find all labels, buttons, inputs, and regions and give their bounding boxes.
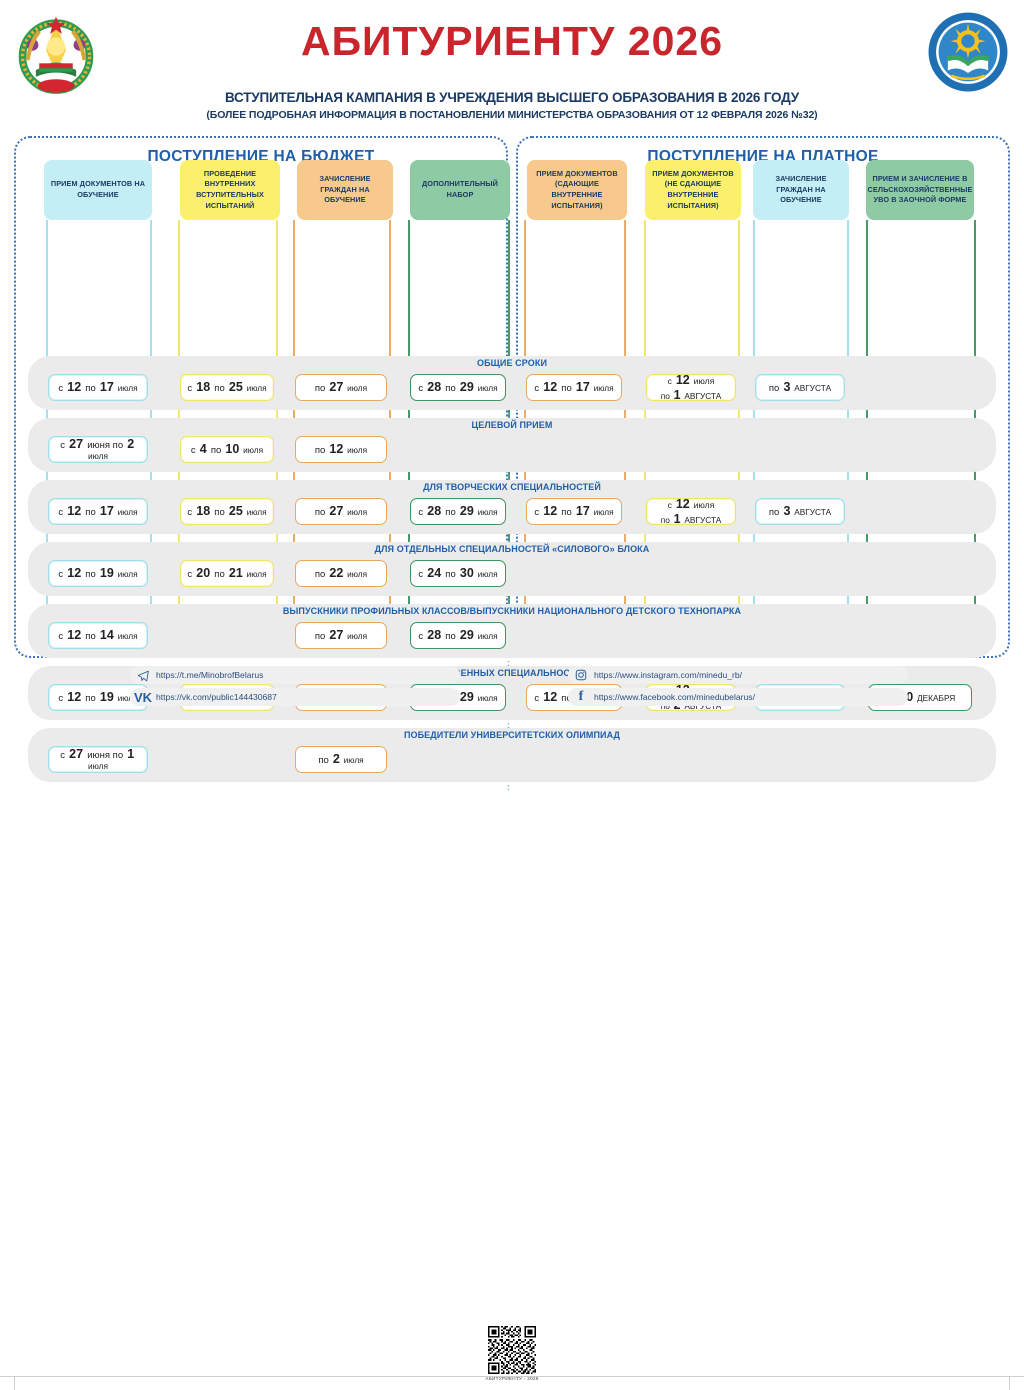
date-cell-text: по 3 АВГУСТА (769, 504, 831, 519)
row-label: ЦЕЛЕВОЙ ПРИЕМ (28, 418, 996, 433)
date-cell: с 12 по 17 июля (526, 374, 622, 401)
schedule-row: ВЫПУСКНИКИ ПРОФИЛЬНЫХ КЛАССОВ/ВЫПУСКНИКИ… (28, 604, 996, 658)
date-cell: с 12 по 17 июля (526, 498, 622, 525)
footer-tick-left (14, 1376, 15, 1390)
schedule-board: ПОСТУПЛЕНИЕ НА БЮДЖЕТ ПОСТУПЛЕНИЕ НА ПЛА… (0, 128, 1024, 658)
page-footer: https://t.me/MinobrofBelarusVKhttps://vk… (0, 660, 1024, 730)
column-header-7: ПРИЕМ И ЗАЧИСЛЕНИЕ В СЕЛЬСКОХОЗЯЙСТВЕННЫ… (866, 160, 974, 220)
date-cell-text: с 12 по 14 июля (58, 628, 137, 643)
panel-separator-dots: : (507, 784, 517, 796)
date-cell: с 12 июляпо 1 АВГУСТА (646, 374, 736, 401)
column-header-label: ДОПОЛНИТЕЛЬНЫЙ НАБОР (414, 179, 506, 200)
date-cell: с 18 по 25 июля (180, 374, 274, 401)
date-cell-text: с 12 по 19 июля (58, 566, 137, 581)
date-cell: с 12 по 19 июля (48, 560, 148, 587)
page-subtitle: ВСТУПИТЕЛЬНАЯ КАМПАНИЯ В УЧРЕЖДЕНИЯ ВЫСШ… (0, 90, 1024, 105)
row-label: ДЛЯ ОТДЕЛЬНЫХ СПЕЦИАЛЬНОСТЕЙ «СИЛОВОГО» … (28, 542, 996, 557)
schedule-row: ДЛЯ ОТДЕЛЬНЫХ СПЕЦИАЛЬНОСТЕЙ «СИЛОВОГО» … (28, 542, 996, 596)
date-cell: с 20 по 21 июля (180, 560, 274, 587)
row-label: ВЫПУСКНИКИ ПРОФИЛЬНЫХ КЛАССОВ/ВЫПУСКНИКИ… (28, 604, 996, 619)
date-cell-text: с 12 по 17 июля (58, 504, 137, 519)
date-cell-text: по 27 июля (315, 628, 367, 643)
column-header-label: ЗАЧИСЛЕНИЕ ГРАЖДАН НА ОБУЧЕНИЕ (301, 174, 389, 206)
date-cell: с 24 по 30 июля (410, 560, 506, 587)
date-cell-text: по 22 июля (315, 566, 367, 581)
page-header: АБИТУРИЕНТУ 2026 (0, 0, 1024, 128)
date-cell-text: с 20 по 21 июля (187, 566, 266, 581)
telegram-icon[interactable] (130, 669, 156, 682)
ministry-of-education-emblem-icon (926, 8, 1010, 96)
date-cell: с 28 по 29 июля (410, 498, 506, 525)
date-cell: по 12 июля (295, 436, 387, 463)
date-cell-text: по 27 июля (315, 380, 367, 395)
column-header-label: ПРИЕМ ДОКУМЕНТОВ (СДАЮЩИЕ ВНУТРЕННИЕ ИСП… (531, 169, 623, 211)
row-label: ОБЩИЕ СРОКИ (28, 356, 996, 371)
date-cell-text: с 18 по 25 июля (187, 504, 266, 519)
date-cell-text: с 4 по 10 июля (191, 442, 263, 457)
footer-link-row[interactable]: fhttps://www.facebook.com/minedubelarus/ (568, 688, 908, 706)
date-cell-text: с 28 по 29 июля (418, 504, 497, 519)
facebook-icon[interactable]: f (568, 689, 594, 705)
date-cell: по 3 АВГУСТА (755, 374, 845, 401)
column-header-5: ПРИЕМ ДОКУМЕНТОВ (НЕ СДАЮЩИЕ ВНУТРЕННИЕ … (645, 160, 741, 220)
date-cell-text: по 2 июля (318, 752, 363, 767)
footer-divider (0, 1376, 1024, 1377)
date-cell: с 4 по 10 июля (180, 436, 274, 463)
row-label: ДЛЯ ТВОРЧЕСКИХ СПЕЦИАЛЬНОСТЕЙ (28, 480, 996, 495)
date-cell-text: с 24 по 30 июля (418, 566, 497, 581)
date-cell-text: по 3 АВГУСТА (769, 380, 831, 395)
date-cell: с 27 июня по 1 июля (48, 746, 148, 773)
column-header-1: ПРОВЕДЕНИЕ ВНУТРЕННИХ ВСТУПИТЕЛЬНЫХ ИСПЫ… (180, 160, 280, 220)
date-cell: с 18 по 25 июля (180, 498, 274, 525)
date-cell-text: с 12 по 17 июля (534, 504, 613, 519)
footer-tick-right (1009, 1376, 1010, 1390)
date-cell-text: с 28 по 29 июля (418, 380, 497, 395)
qr-code-block: АБИТУРИЕНТУ - 2026 (481, 1326, 543, 1381)
date-cell: с 12 по 17 июля (48, 498, 148, 525)
date-cell-text: с 27 июня по 1 июля (51, 747, 145, 773)
date-cell: с 28 по 29 июля (410, 374, 506, 401)
date-cell: по 2 июля (295, 746, 387, 773)
footer-link-url[interactable]: https://www.instagram.com/minedu_rb/ (594, 670, 742, 680)
date-cell-text: с 18 по 25 июля (187, 380, 266, 395)
footer-link-url[interactable]: https://vk.com/public144430687 (156, 692, 277, 702)
schedule-row: ЦЕЛЕВОЙ ПРИЕМс 27 июня по 2 июляс 4 по 1… (28, 418, 996, 472)
column-header-3: ДОПОЛНИТЕЛЬНЫЙ НАБОР (410, 160, 510, 220)
date-cell: с 27 июня по 2 июля (48, 436, 148, 463)
date-cell-text: с 27 июня по 2 июля (51, 437, 145, 463)
column-header-0: ПРИЕМ ДОКУМЕНТОВ НА ОБУЧЕНИЕ (44, 160, 152, 220)
date-cell: с 28 по 29 июля (410, 622, 506, 649)
footer-link-url[interactable]: https://www.facebook.com/minedubelarus/ (594, 692, 755, 702)
instagram-icon[interactable] (568, 669, 594, 681)
date-cell-text: с 28 по 29 июля (418, 628, 497, 643)
date-cell-text: с 12 по 17 июля (58, 380, 137, 395)
column-header-4: ПРИЕМ ДОКУМЕНТОВ (СДАЮЩИЕ ВНУТРЕННИЕ ИСП… (527, 160, 627, 220)
date-cell-text: с 12 июляпо 1 АВГУСТА (661, 497, 722, 526)
footer-link-row[interactable]: VKhttps://vk.com/public144430687 (130, 688, 460, 706)
date-cell: по 27 июля (295, 498, 387, 525)
schedule-row: ОБЩИЕ СРОКИс 12 по 17 июляс 18 по 25 июл… (28, 356, 996, 410)
footer-link-url[interactable]: https://t.me/MinobrofBelarus (156, 670, 263, 680)
schedule-row: ПОБЕДИТЕЛИ УНИВЕРСИТЕТСКИХ ОЛИМПИАДс 27 … (28, 728, 996, 782)
footer-link-row[interactable]: https://t.me/MinobrofBelarus (130, 666, 460, 684)
column-header-label: ПРИЕМ И ЗАЧИСЛЕНИЕ В СЕЛЬСКОХОЗЯЙСТВЕННЫ… (868, 174, 973, 206)
footer-link-row[interactable]: https://www.instagram.com/minedu_rb/ (568, 666, 908, 684)
vk-icon[interactable]: VK (130, 690, 156, 705)
qr-code-icon (488, 1326, 536, 1374)
schedule-row: ДЛЯ ТВОРЧЕСКИХ СПЕЦИАЛЬНОСТЕЙс 12 по 17 … (28, 480, 996, 534)
date-cell: по 27 июля (295, 374, 387, 401)
date-cell: по 3 АВГУСТА (755, 498, 845, 525)
column-header-label: ПРИЕМ ДОКУМЕНТОВ (НЕ СДАЮЩИЕ ВНУТРЕННИЕ … (649, 169, 737, 211)
column-header-2: ЗАЧИСЛЕНИЕ ГРАЖДАН НА ОБУЧЕНИЕ (297, 160, 393, 220)
date-cell: с 12 по 14 июля (48, 622, 148, 649)
date-cell-text: с 12 по 17 июля (534, 380, 613, 395)
date-cell: по 27 июля (295, 622, 387, 649)
column-header-label: ПРИЕМ ДОКУМЕНТОВ НА ОБУЧЕНИЕ (48, 179, 148, 200)
date-cell: с 12 по 17 июля (48, 374, 148, 401)
date-cell: с 12 июляпо 1 АВГУСТА (646, 498, 736, 525)
row-label: ПОБЕДИТЕЛИ УНИВЕРСИТЕТСКИХ ОЛИМПИАД (28, 728, 996, 743)
column-header-6: ЗАЧИСЛЕНИЕ ГРАЖДАН НА ОБУЧЕНИЕ (753, 160, 849, 220)
page-title: АБИТУРИЕНТУ 2026 (0, 18, 1024, 65)
column-header-label: ЗАЧИСЛЕНИЕ ГРАЖДАН НА ОБУЧЕНИЕ (757, 174, 845, 206)
date-cell: по 22 июля (295, 560, 387, 587)
column-header-label: ПРОВЕДЕНИЕ ВНУТРЕННИХ ВСТУПИТЕЛЬНЫХ ИСПЫ… (184, 169, 276, 211)
date-cell-text: с 12 июляпо 1 АВГУСТА (661, 373, 722, 402)
date-cell-text: по 12 июля (315, 442, 367, 457)
date-cell-text: по 27 июля (315, 504, 367, 519)
page-subtitle-note: (БОЛЕЕ ПОДРОБНАЯ ИНФОРМАЦИЯ В ПОСТАНОВЛЕ… (0, 109, 1024, 121)
